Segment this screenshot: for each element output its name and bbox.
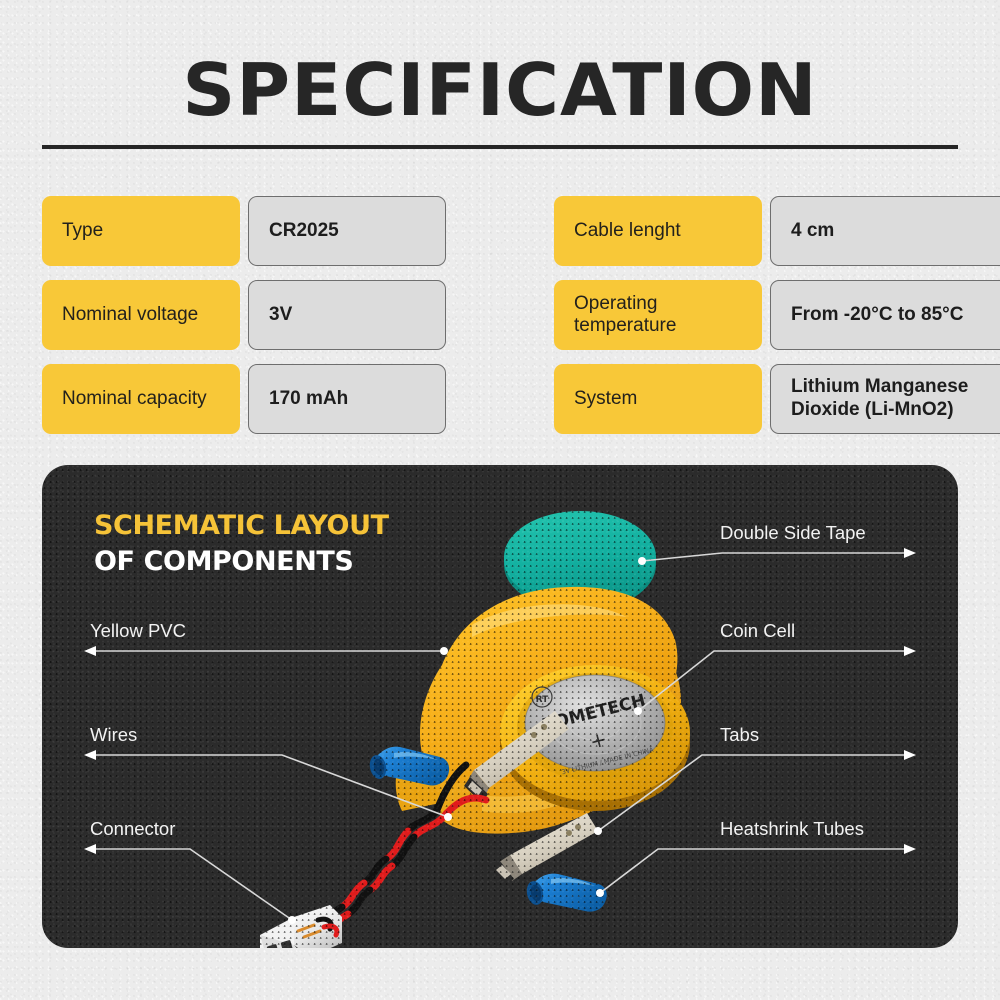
spec-value-cable-lenght: 4 cm — [770, 196, 1000, 266]
spec-key-nominal-capacity: Nominal capacity — [42, 364, 240, 434]
callout-heatshrink-tubes: Heatshrink Tubes — [720, 818, 864, 840]
table-row: Cable lenght 4 cm — [554, 196, 958, 266]
callout-double-side-tape: Double Side Tape — [720, 522, 866, 544]
page-title: SPECIFICATION — [0, 48, 1000, 132]
spec-value-nominal-capacity: 170 mAh — [248, 364, 446, 434]
spec-key-system: System — [554, 364, 762, 434]
table-row: System Lithium Manganese Dioxide (Li-MnO… — [554, 364, 958, 434]
table-row: Operating temperature From -20°C to 85°C — [554, 280, 958, 350]
callout-connector: Connector — [90, 818, 175, 840]
spec-key-cable-lenght: Cable lenght — [554, 196, 762, 266]
callout-yellow-pvc: Yellow PVC — [90, 620, 186, 642]
spec-value-nominal-voltage: 3V — [248, 280, 446, 350]
schematic-panel: ROMETECH + 3V LITHIUM / MADE IN CHINA RT — [42, 465, 958, 948]
spec-value-operating-temperature: From -20°C to 85°C — [770, 280, 1000, 350]
spec-value-system: Lithium Manganese Dioxide (Li-MnO2) — [770, 364, 1000, 434]
callout-tabs: Tabs — [720, 724, 759, 746]
specification-table: Type CR2025 Cable lenght 4 cm Nominal vo… — [42, 196, 958, 434]
table-row: Type CR2025 — [42, 196, 446, 266]
callout-coin-cell: Coin Cell — [720, 620, 795, 642]
spec-key-nominal-voltage: Nominal voltage — [42, 280, 240, 350]
table-row: Nominal capacity 170 mAh — [42, 364, 446, 434]
spec-value-type: CR2025 — [248, 196, 446, 266]
spec-key-type: Type — [42, 196, 240, 266]
table-row: Nominal voltage 3V — [42, 280, 446, 350]
spec-key-operating-temperature: Operating temperature — [554, 280, 762, 350]
callout-wires: Wires — [90, 724, 137, 746]
title-divider — [42, 145, 958, 149]
